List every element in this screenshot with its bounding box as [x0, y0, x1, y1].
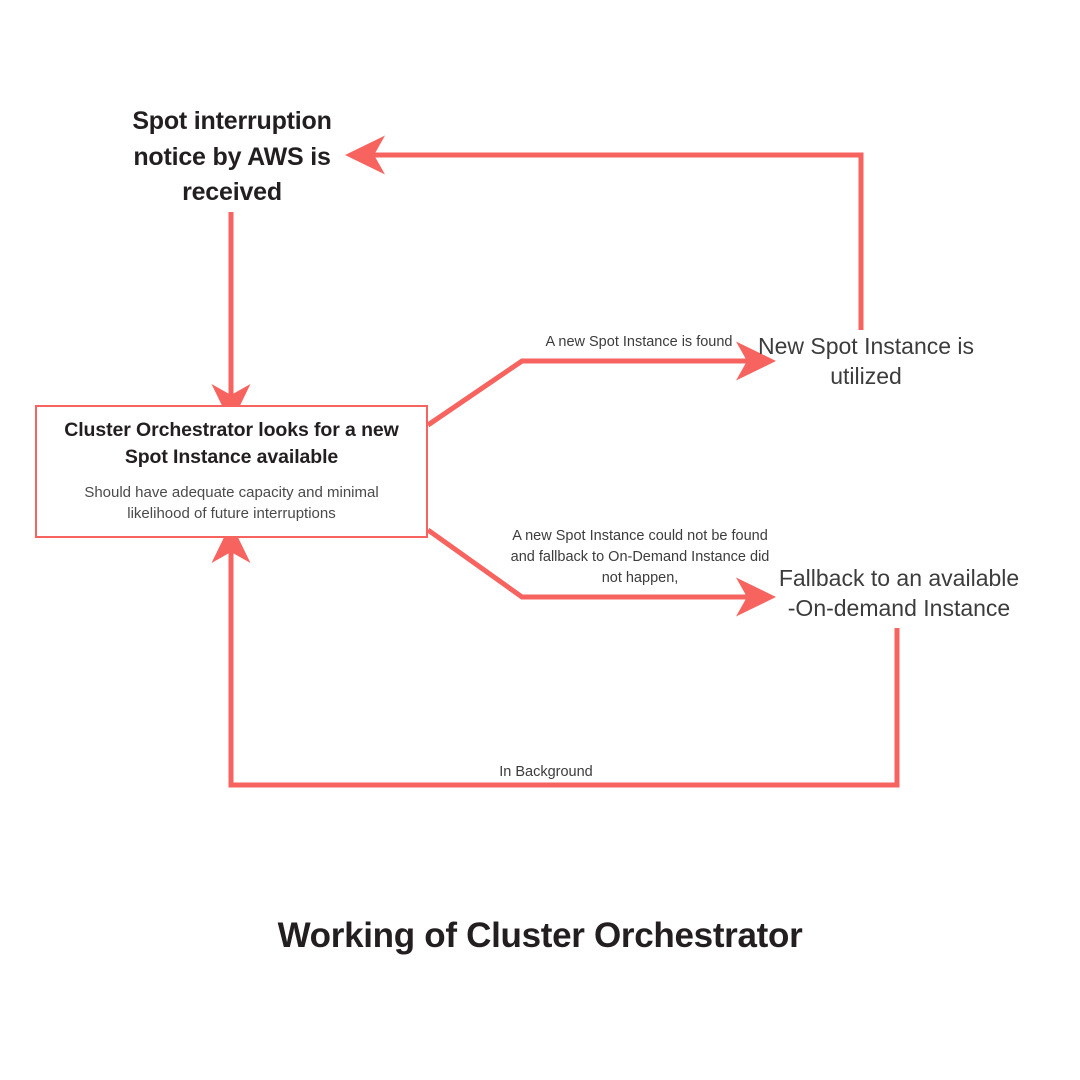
- orchestrator-box-title: Cluster Orchestrator looks for a new Spo…: [51, 417, 412, 472]
- edge-orchestrator-to-new-spot: [428, 361, 751, 425]
- diagram-caption: Working of Cluster Orchestrator: [0, 916, 1080, 956]
- node-spot-interruption-notice: Spot interruption notice by AWS is recei…: [96, 104, 368, 211]
- edge-label-in-background: In Background: [440, 762, 652, 783]
- edge-new-spot-to-notice: [370, 155, 861, 330]
- fallback-line-2: -On-demand Instance: [768, 594, 1030, 624]
- edge-label-spot-not-found: A new Spot Instance could not be found a…: [504, 526, 776, 589]
- fallback-line-1: Fallback to an available: [768, 564, 1030, 594]
- diagram-canvas: Spot interruption notice by AWS is recei…: [0, 0, 1080, 1080]
- node-new-spot-instance-utilized: New Spot Instance is utilized: [744, 332, 988, 392]
- node-fallback-on-demand-instance: Fallback to an available -On-demand Inst…: [768, 564, 1030, 624]
- edge-label-spot-found: A new Spot Instance is found: [506, 332, 772, 353]
- orchestrator-box-subtitle: Should have adequate capacity and minima…: [51, 482, 412, 525]
- node-cluster-orchestrator-box: Cluster Orchestrator looks for a new Spo…: [35, 405, 428, 538]
